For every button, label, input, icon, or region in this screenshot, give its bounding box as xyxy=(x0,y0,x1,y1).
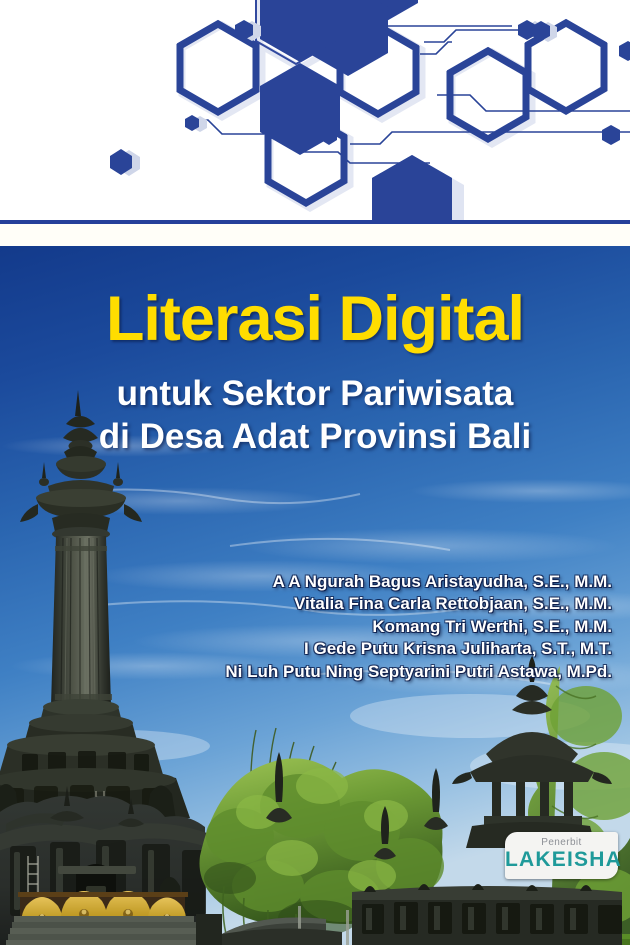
publisher-label: Penerbit xyxy=(505,837,618,848)
temple-wall-right xyxy=(352,884,622,945)
publisher-logo: Penerbit LAKEISHA xyxy=(505,832,618,879)
publisher-name: LAKEISHA xyxy=(505,849,618,870)
header-white-gap xyxy=(0,224,630,246)
hexagon-network-icon xyxy=(0,0,630,220)
header-banner xyxy=(0,0,630,220)
book-cover: Literasi Digital untuk Sektor Pariwisata… xyxy=(0,0,630,945)
